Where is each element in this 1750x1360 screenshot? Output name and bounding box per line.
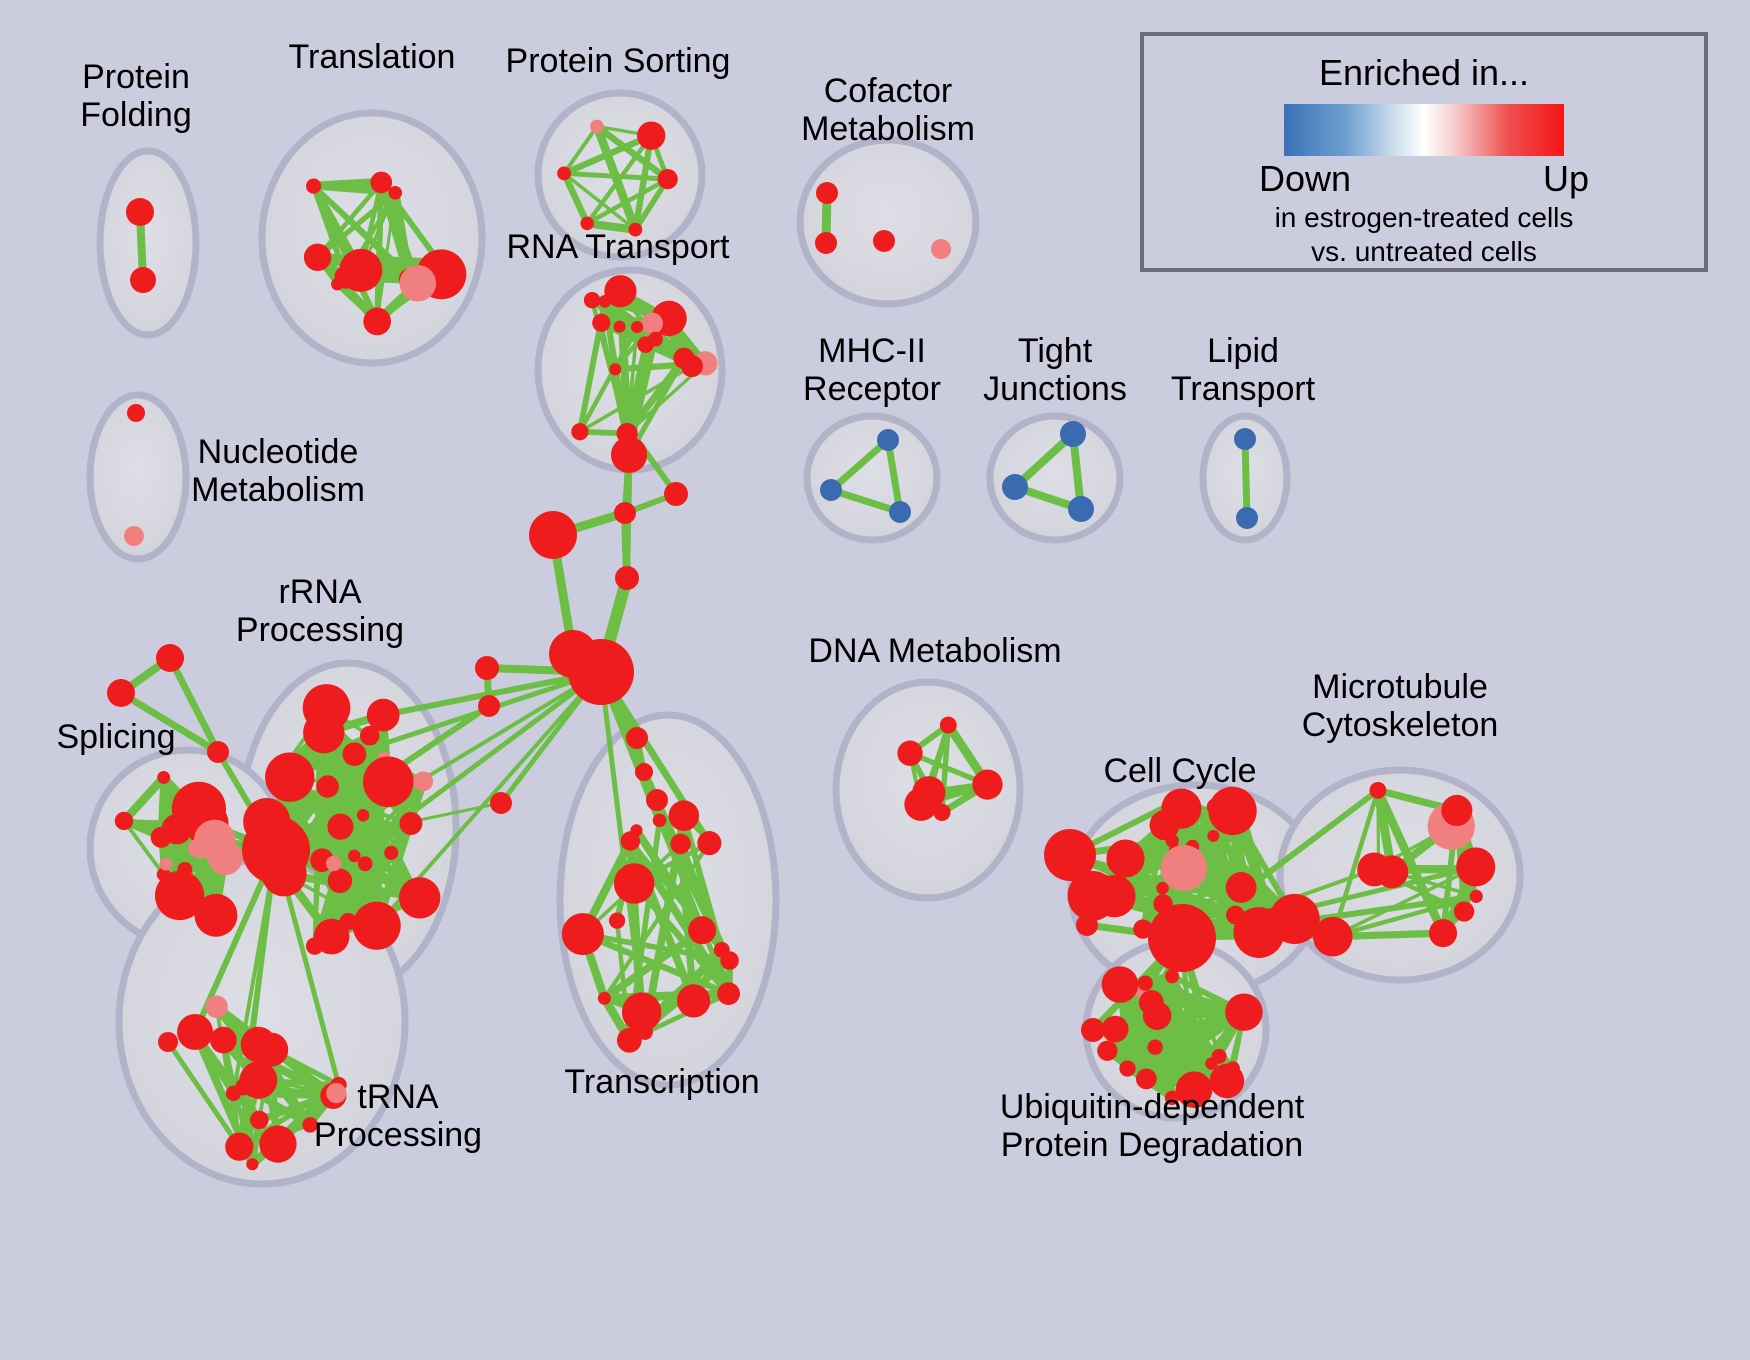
network-node (475, 656, 499, 680)
network-node (1060, 421, 1086, 447)
network-node (124, 526, 144, 546)
network-node (177, 1014, 213, 1050)
network-node (327, 814, 353, 840)
network-node (107, 679, 135, 707)
network-node (1119, 1060, 1135, 1076)
network-node (246, 1158, 258, 1170)
network-node (584, 292, 600, 308)
network-node (635, 763, 653, 781)
network-node (1106, 839, 1144, 877)
network-node (637, 336, 654, 353)
network-node (490, 792, 512, 814)
network-node (127, 404, 145, 422)
network-node (580, 217, 594, 231)
network-node (1147, 1040, 1162, 1055)
network-node (126, 198, 154, 226)
network-node (157, 771, 170, 784)
network-node (637, 121, 665, 149)
network-node (598, 992, 611, 1005)
network-node (413, 771, 433, 791)
network-node (259, 1125, 296, 1162)
network-node (609, 912, 625, 928)
network-node (269, 774, 281, 786)
legend-title: Enriched in... (1319, 52, 1529, 94)
network-node (384, 846, 398, 860)
network-node (339, 913, 356, 930)
network-node (1002, 474, 1028, 500)
network-node (1226, 872, 1257, 903)
network-node (225, 1133, 253, 1161)
network-node (1176, 1071, 1213, 1108)
network-node (614, 502, 636, 524)
network-edge (604, 994, 728, 999)
network-node (529, 511, 577, 559)
network-node (631, 321, 643, 333)
network-node (571, 423, 588, 440)
cluster-ellipse-mhc-ii (807, 416, 937, 540)
network-figure: Protein FoldingTranslationProtein Sortin… (0, 0, 1750, 1360)
network-node (1081, 1018, 1105, 1042)
network-node (1148, 904, 1216, 972)
network-node (653, 814, 667, 828)
network-node (1143, 1001, 1171, 1029)
network-node (304, 244, 331, 271)
network-node (1429, 919, 1457, 947)
network-node (931, 239, 951, 259)
network-node (130, 267, 156, 293)
network-node (115, 812, 133, 830)
network-node (1138, 976, 1153, 991)
network-node (940, 717, 957, 734)
network-node (210, 1027, 237, 1054)
network-node (697, 831, 721, 855)
network-node (626, 727, 648, 749)
network-node (1068, 496, 1094, 522)
legend-low-label: Down (1259, 158, 1351, 200)
network-node (873, 230, 895, 252)
network-node (592, 314, 610, 332)
network-node (664, 482, 688, 506)
network-node (720, 951, 739, 970)
network-node (400, 265, 437, 302)
network-node (363, 756, 414, 807)
network-node (641, 313, 663, 335)
network-node (1207, 830, 1219, 842)
network-node (1150, 810, 1180, 840)
network-node (889, 501, 911, 523)
legend-subtitle-line2: vs. untreated cells (1311, 236, 1537, 268)
network-node (688, 916, 716, 944)
network-node (1441, 795, 1472, 826)
network-node (1212, 1049, 1227, 1064)
network-node (1102, 1016, 1129, 1043)
network-node (1234, 919, 1252, 937)
network-node (1136, 1068, 1157, 1089)
network-node (207, 741, 229, 763)
network-node (1165, 1091, 1179, 1105)
network-node (1102, 966, 1139, 1003)
network-node (816, 182, 838, 204)
network-node (306, 179, 321, 194)
legend-color-bar (1284, 104, 1564, 156)
legend-subtitle-line1: in estrogen-treated cells (1275, 202, 1574, 234)
network-node (681, 355, 703, 377)
network-node (302, 1117, 318, 1133)
network-node (815, 232, 837, 254)
network-node (820, 479, 842, 501)
network-node (614, 863, 655, 904)
network-node (180, 876, 195, 891)
network-node (360, 726, 380, 746)
network-node (1156, 882, 1169, 895)
network-node (1076, 914, 1098, 936)
network-node (617, 423, 638, 444)
network-node (1461, 863, 1474, 876)
network-node (670, 834, 690, 854)
network-edge (1245, 439, 1247, 518)
network-node (250, 1111, 268, 1129)
network-node (1366, 856, 1391, 881)
network-node (1234, 428, 1256, 450)
network-node (158, 1032, 178, 1052)
network-node (972, 769, 1002, 799)
network-node (1454, 901, 1474, 921)
network-node (933, 804, 950, 821)
network-node (399, 812, 422, 835)
legend-box: Enriched in... Down Up in estrogen-treat… (1140, 32, 1708, 272)
network-node (562, 913, 604, 955)
network-node (326, 1083, 346, 1103)
network-node (614, 321, 626, 333)
network-node (621, 831, 640, 850)
network-node (357, 809, 369, 821)
network-node (242, 816, 310, 884)
network-node (609, 363, 621, 375)
network-node (1236, 507, 1258, 529)
network-node (646, 789, 668, 811)
network-node (326, 856, 341, 871)
network-node (160, 858, 173, 871)
network-node (388, 186, 402, 200)
cluster-ellipse-protein-folding (100, 151, 196, 335)
network-node (1210, 1064, 1245, 1099)
network-node (1225, 993, 1262, 1030)
network-node (363, 308, 391, 336)
network-node (628, 223, 642, 237)
network-node (1369, 782, 1386, 799)
legend-scale-endpoints: Down Up (1259, 158, 1589, 200)
network-node (307, 722, 331, 746)
network-node (328, 869, 353, 894)
network-node (205, 996, 227, 1018)
network-node (599, 295, 612, 308)
network-node (353, 902, 401, 950)
legend-high-label: Up (1543, 158, 1589, 200)
network-node (549, 630, 597, 678)
network-node (370, 172, 392, 194)
network-node (194, 820, 236, 862)
network-node (348, 850, 361, 863)
network-node (669, 800, 700, 831)
network-node (316, 775, 339, 798)
network-node (1313, 917, 1353, 957)
network-node (617, 1028, 642, 1053)
network-node (399, 877, 440, 918)
network-node (478, 695, 500, 717)
network-node (343, 742, 367, 766)
network-node (615, 566, 639, 590)
network-node (557, 166, 571, 180)
network-node (1093, 875, 1135, 917)
network-node (195, 894, 238, 937)
network-node (339, 249, 382, 292)
network-node (717, 982, 740, 1005)
network-node (877, 429, 899, 451)
network-node (1044, 829, 1096, 881)
network-node (658, 169, 678, 189)
network-node (240, 1061, 277, 1098)
network-node (1097, 1041, 1117, 1061)
network-node (1470, 890, 1483, 903)
network-node (1161, 845, 1207, 891)
network-node (1208, 787, 1256, 835)
network-node (590, 120, 604, 134)
network-node (677, 984, 710, 1017)
network-node (358, 856, 373, 871)
network-node (897, 741, 922, 766)
network-node (156, 644, 184, 672)
